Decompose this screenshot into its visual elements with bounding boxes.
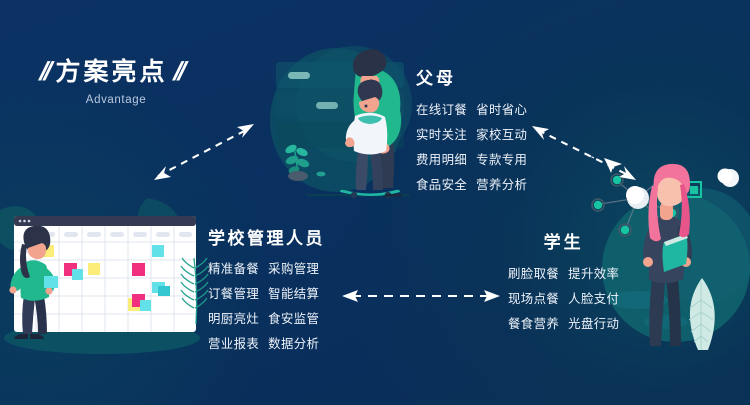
title-row: // 方案亮点 // (40, 58, 192, 84)
students-line-2-b: 人脸支付 (568, 291, 619, 306)
page-title-block: // 方案亮点 // Advantage (40, 58, 192, 106)
group-students: 学生 刷脸取餐提升效率 现场点餐人脸支付 餐食营养光盘行动 (508, 228, 619, 332)
school-line-4: 营业报表数据分析 (208, 334, 325, 352)
parents-line-3-a: 费用明细 (416, 152, 467, 167)
parents-line-3: 费用明细专款专用 (416, 150, 527, 168)
parents-line-2-a: 实时关注 (416, 127, 467, 142)
school-heading: 学校管理人员 (208, 224, 325, 249)
connector-school-to-parents (140, 110, 270, 190)
school-line-2-a: 订餐管理 (208, 286, 259, 301)
parents-line-2: 实时关注家校互动 (416, 125, 527, 143)
students-line-3: 餐食营养光盘行动 (508, 314, 619, 332)
infographic-canvas: // 方案亮点 // Advantage (0, 0, 750, 405)
school-line-1-b: 采购管理 (268, 261, 319, 276)
group-parents: 父母 在线订餐省时省心 实时关注家校互动 费用明细专款专用 食品安全营养分析 (416, 64, 527, 193)
group-school: 学校管理人员 精准备餐采购管理 订餐管理智能结算 明厨亮灶食安监管 营业报表数据… (208, 224, 325, 352)
parents-line-1-b: 省时省心 (476, 102, 527, 117)
parents-line-1: 在线订餐省时省心 (416, 100, 527, 118)
page-subtitle: Advantage (40, 94, 192, 106)
students-heading: 学生 (508, 228, 619, 253)
students-line-2-a: 现场点餐 (508, 291, 559, 306)
students-line-1-b: 提升效率 (568, 266, 619, 281)
students-line-1-a: 刷脸取餐 (508, 266, 559, 281)
parents-line-4-a: 食品安全 (416, 177, 467, 192)
students-line-3-b: 光盘行动 (568, 316, 619, 331)
students-line-3-a: 餐食营养 (508, 316, 559, 331)
slash-left-icon: // (39, 58, 50, 84)
school-line-4-a: 营业报表 (208, 336, 259, 351)
school-line-1-a: 精准备餐 (208, 261, 259, 276)
connector-parents-to-students (520, 118, 650, 193)
page-title: 方案亮点 (55, 59, 167, 84)
school-line-4-b: 数据分析 (268, 336, 319, 351)
slash-right-icon: // (173, 58, 184, 84)
school-illustration (0, 198, 208, 350)
students-line-2: 现场点餐人脸支付 (508, 289, 619, 307)
parents-illustration (258, 34, 418, 206)
school-line-1: 精准备餐采购管理 (208, 259, 325, 277)
connector-school-to-students (336, 288, 506, 304)
school-line-2-b: 智能结算 (268, 286, 319, 301)
parents-line-4: 食品安全营养分析 (416, 175, 527, 193)
school-line-3: 明厨亮灶食安监管 (208, 309, 325, 327)
students-line-1: 刷脸取餐提升效率 (508, 264, 619, 282)
school-line-3-b: 食安监管 (268, 311, 319, 326)
school-line-3-a: 明厨亮灶 (208, 311, 259, 326)
parents-line-1-a: 在线订餐 (416, 102, 467, 117)
parents-heading: 父母 (416, 64, 527, 89)
school-line-2: 订餐管理智能结算 (208, 284, 325, 302)
